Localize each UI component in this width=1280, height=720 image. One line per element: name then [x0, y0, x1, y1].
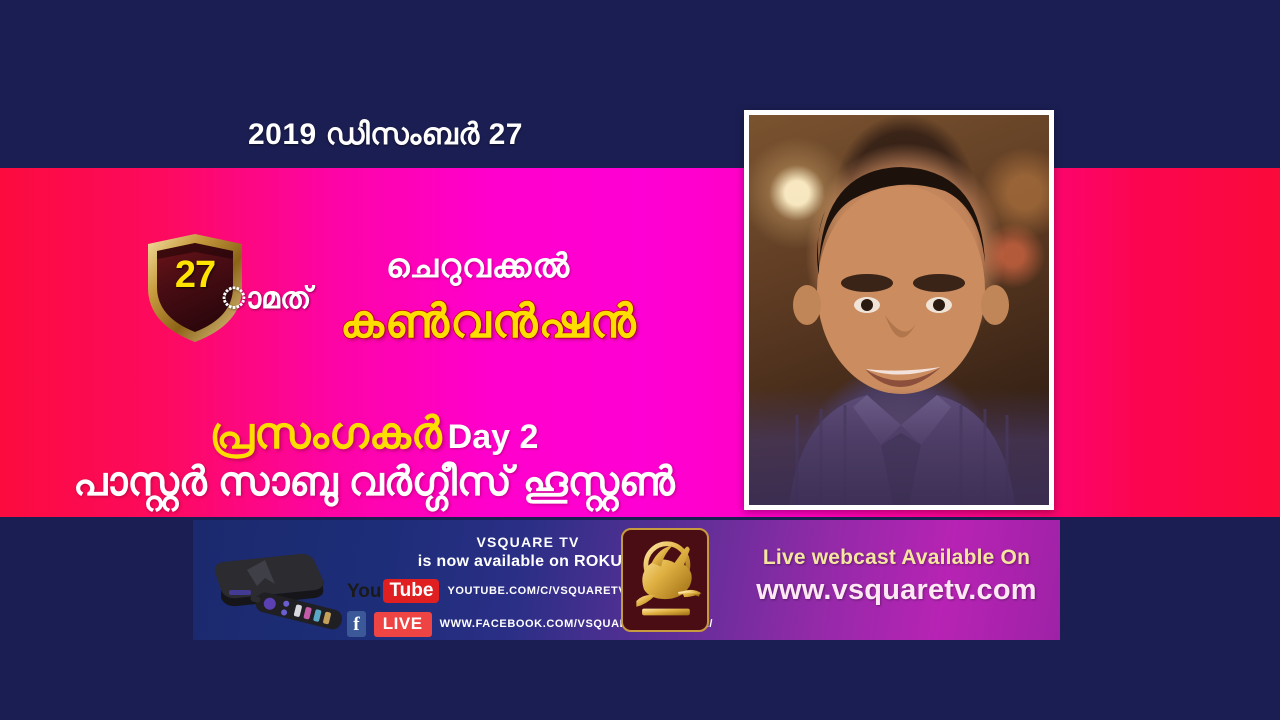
promo-banner: VSQUARE TV is now available on ROKU !! Y… [193, 520, 1060, 640]
roku-streaming-device-icon [203, 542, 343, 630]
speaker-photo [749, 115, 1049, 505]
event-place-title: ചെറുവക്കൽ [386, 247, 570, 286]
speaker-name: പാസ്റ്റർ സാബു വർഗ്ഗീസ് ഹൂസ്റ്റൺ [0, 460, 748, 505]
speaker-label: പ്രസംഗകർ [210, 409, 442, 458]
webcast-url[interactable]: www.vsquaretv.com [733, 574, 1060, 607]
webcast-block: Live webcast Available On www.vsquaretv.… [733, 546, 1060, 607]
youtube-logo-tube: Tube [383, 579, 439, 603]
speaker-photo-frame [744, 110, 1054, 510]
facebook-live-badge: LIVE [374, 612, 432, 637]
youtube-logo-you: You [347, 582, 381, 601]
event-name-title: കൺവൻഷൻ [340, 294, 637, 350]
badge-suffix: ാമത് [222, 282, 311, 316]
youtube-logo: YouTube [347, 579, 439, 603]
portrait-illustration [749, 115, 1049, 505]
facebook-icon: f [347, 611, 366, 637]
speaker-heading-row: പ്രസംഗകർDay 2 [0, 409, 748, 459]
event-date: 2019 ഡിസംബർ 27 [248, 118, 523, 152]
bottom-navy-strip [0, 640, 1280, 720]
dove-book-logo [621, 528, 709, 632]
webcast-label: Live webcast Available On [733, 546, 1060, 570]
poster-canvas: 2019 ഡിസംബർ 27 27 [0, 0, 1280, 720]
dove-icon [623, 530, 707, 630]
speaker-day: Day 2 [448, 418, 539, 456]
top-navy-strip: 2019 ഡിസംബർ 27 [0, 0, 1280, 168]
